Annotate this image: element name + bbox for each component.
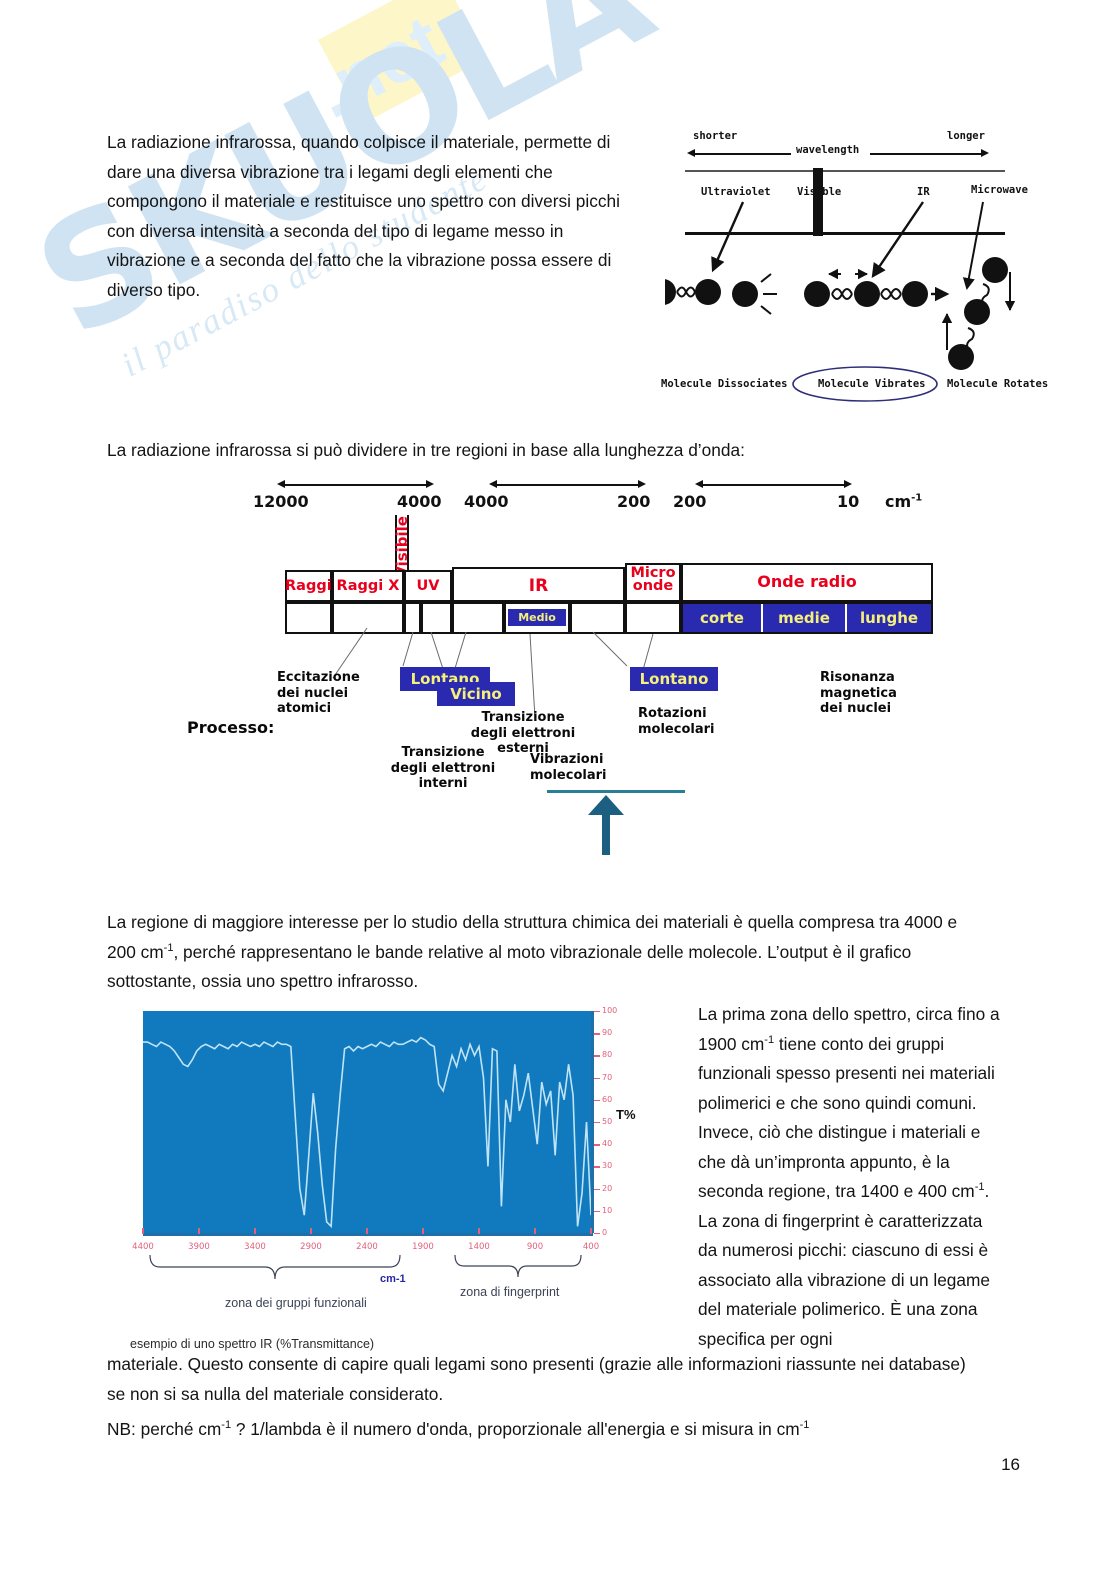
ir-y-tick-mark xyxy=(594,1166,600,1167)
nb-text-b: ? 1/lambda è il numero d'onda, proporzio… xyxy=(231,1419,800,1439)
process-note-nmr: Risonanza magnetica dei nuclei xyxy=(820,670,897,717)
ir-y-axis-label: T% xyxy=(616,1107,636,1122)
ir-x-tick-mark xyxy=(254,1228,255,1234)
ir-y-tick-mark xyxy=(594,1055,600,1056)
right-column-sup-2: -1 xyxy=(975,1181,985,1193)
ir-x-tick-mark xyxy=(310,1228,311,1234)
process-title: Processo: xyxy=(187,720,274,736)
ir-x-tick-mark xyxy=(142,1228,143,1234)
ir-zone-label-functional: zona dei gruppi funzionali xyxy=(225,1296,367,1310)
nb-sup-2: -1 xyxy=(800,1419,810,1431)
right-column-text-3: . La zona di fingerprint è caratterizzat… xyxy=(698,1181,990,1349)
ir-x-tick-mark xyxy=(478,1228,479,1234)
ir-y-tick-mark xyxy=(594,1078,600,1079)
process-note-inner-electrons-l2: degli elettroni xyxy=(378,761,508,777)
process-note-nuclei: Eccitazione dei nuclei atomici xyxy=(277,670,360,717)
ir-y-tick: 10 xyxy=(602,1206,612,1215)
label-molecule-dissociates: Molecule Dissociates xyxy=(661,378,787,390)
ir-x-axis xyxy=(143,1233,593,1236)
ir-y-tick-mark xyxy=(594,1122,600,1123)
ir-y-tick: 20 xyxy=(602,1184,612,1193)
interest-region-sup: -1 xyxy=(164,942,174,954)
ir-y-tick-mark xyxy=(594,1233,600,1234)
process-note-molecular-rotations-l2: molecolari xyxy=(638,722,714,738)
label-molecule-vibrates: Molecule Vibrates xyxy=(818,378,925,390)
ir-y-tick: 100 xyxy=(602,1006,617,1015)
right-column-paragraph: La prima zona dello spettro, circa fino … xyxy=(698,1000,1000,1354)
ir-y-tick-mark xyxy=(594,1033,600,1034)
process-note-outer-electrons-l2: degli elettroni xyxy=(458,726,588,742)
nb-paragraph: NB: perché cm-1 ? 1/lambda è il numero d… xyxy=(107,1415,987,1445)
ir-spectrum-chart: 0102030405060708090100 44003900340029002… xyxy=(130,1003,610,1353)
process-note-inner-electrons-l3: interni xyxy=(378,776,508,792)
process-note-nmr-l3: dei nuclei xyxy=(820,701,897,717)
nb-text-a: NB: perché cm xyxy=(107,1419,221,1439)
em-spectrum-figure: shorter longer wavelength Ultraviolet Vi… xyxy=(665,122,1020,407)
ir-y-tick: 90 xyxy=(602,1028,612,1037)
label-molecule-rotates: Molecule Rotates xyxy=(947,378,1048,390)
process-note-molecular-rotations-l1: Rotazioni xyxy=(638,706,714,722)
process-note-outer-electrons-l1: Transizione xyxy=(458,710,588,726)
ir-y-tick-mark xyxy=(594,1011,600,1012)
regions-lead-paragraph: La radiazione infrarossa si può dividere… xyxy=(107,436,967,466)
chip-vicino-uv: Vicino xyxy=(437,682,515,706)
interest-region-text-b: , perché rappresentano le bande relative… xyxy=(107,942,911,992)
em-figure-vectors xyxy=(665,122,1020,407)
ir-plot-area xyxy=(143,1011,591,1233)
process-note-nuclei-l2: dei nuclei xyxy=(277,686,360,702)
process-note-molecular-rotations: Rotazioni molecolari xyxy=(638,706,714,737)
ir-y-tick: 80 xyxy=(602,1050,612,1059)
process-note-molecular-vibrations-l1: Vibrazioni xyxy=(530,752,606,768)
ir-x-tick-mark xyxy=(366,1228,367,1234)
watermark-suffix: .net xyxy=(300,0,456,135)
ir-x-tick-mark xyxy=(534,1228,535,1234)
process-note-outer-electrons: Transizione degli elettroni esterni xyxy=(458,710,588,757)
ir-y-tick-mark xyxy=(594,1211,600,1212)
process-note-molecular-vibrations: Vibrazioni molecolari xyxy=(530,752,606,783)
process-note-nuclei-l3: atomici xyxy=(277,701,360,717)
chip-lontano-ir: Lontano xyxy=(630,667,718,691)
ir-y-tick: 60 xyxy=(602,1095,612,1104)
intro-paragraph: La radiazione infrarossa, quando colpisc… xyxy=(107,128,637,305)
ir-y-tick: 70 xyxy=(602,1073,612,1082)
watermark-badge xyxy=(318,0,486,124)
tail-paragraph: materiale. Questo consente di capire qua… xyxy=(107,1350,987,1409)
ir-y-tick-mark xyxy=(594,1144,600,1145)
process-note-nmr-l1: Risonanza xyxy=(820,670,897,686)
ir-y-tick: 30 xyxy=(602,1161,612,1170)
interest-region-paragraph: La regione di maggiore interesse per lo … xyxy=(107,908,977,997)
ir-zone-label-fingerprint: zona di fingerprint xyxy=(460,1285,559,1299)
process-note-nmr-l2: magnetica xyxy=(820,686,897,702)
ir-x-tick-mark xyxy=(198,1228,199,1234)
emphasis-arrow-icon xyxy=(580,793,660,863)
process-note-molecular-vibrations-l2: molecolari xyxy=(530,768,606,784)
ir-regions-figure: 12000 4000 4000 200 200 10 cm-1 Visibile… xyxy=(245,470,960,875)
ir-y-tick-mark xyxy=(594,1189,600,1190)
right-column-sup-1: -1 xyxy=(764,1034,774,1046)
ir-y-tick: 40 xyxy=(602,1139,612,1148)
page-number: 16 xyxy=(1001,1455,1020,1475)
process-note-nuclei-l1: Eccitazione xyxy=(277,670,360,686)
ir-y-tick-mark xyxy=(594,1100,600,1101)
ir-x-tick-mark xyxy=(590,1228,591,1234)
nb-sup-1: -1 xyxy=(221,1419,231,1431)
ir-chart-caption: esempio di uno spettro IR (%Transmittanc… xyxy=(130,1337,374,1351)
ir-y-tick: 50 xyxy=(602,1117,612,1126)
ir-y-tick: 0 xyxy=(602,1228,607,1237)
ir-x-tick-mark xyxy=(422,1228,423,1234)
ir-trace-svg xyxy=(143,1011,591,1233)
right-column-text-2: tiene conto dei gruppi funzionali spesso… xyxy=(698,1034,995,1202)
